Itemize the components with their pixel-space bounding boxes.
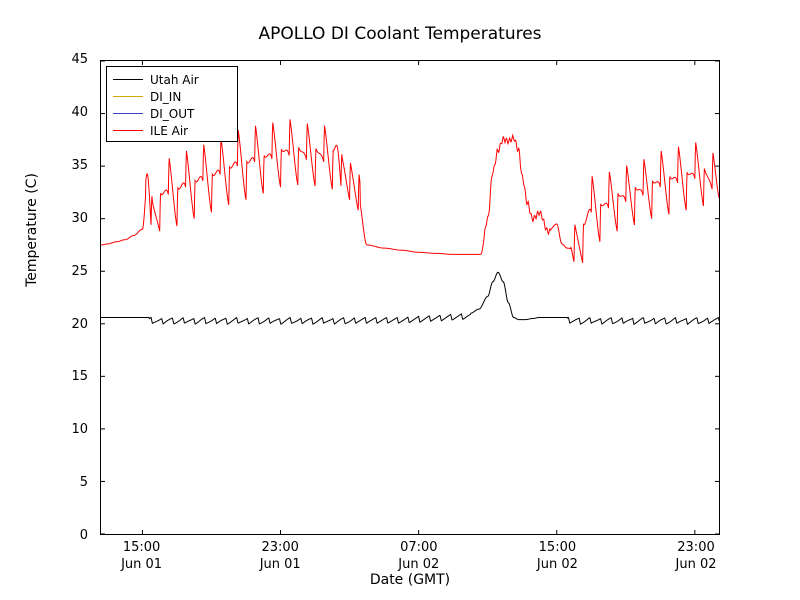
legend-label-ile-air: ILE Air	[150, 124, 188, 138]
y-tick-label: 10	[28, 422, 88, 437]
legend-swatch-utah-air	[113, 79, 143, 80]
y-tick-label: 0	[28, 528, 88, 543]
chart-title: APOLLO DI Coolant Temperatures	[0, 24, 800, 44]
y-tick-label: 20	[28, 317, 88, 332]
legend-swatch-di-in	[113, 96, 143, 97]
chart-figure: APOLLO DI Coolant Temperatures Temperatu…	[0, 0, 800, 600]
x-tick-label: 07:00 Jun 02	[364, 539, 474, 573]
y-tick-label: 40	[28, 105, 88, 120]
y-tick-label: 45	[28, 52, 88, 67]
series-layer	[101, 119, 719, 324]
legend-swatch-di-out	[113, 113, 143, 114]
x-tick-label: 15:00 Jun 01	[87, 539, 197, 573]
legend-label-utah-air: Utah Air	[150, 73, 199, 87]
legend-swatch-ile-air	[113, 130, 143, 131]
legend-entry-di-out: DI_OUT	[107, 105, 237, 122]
legend-entry-utah-air: Utah Air	[107, 71, 237, 88]
x-tick-label: 23:00 Jun 01	[225, 539, 335, 573]
legend-entry-di-in: DI_IN	[107, 88, 237, 105]
y-tick-label: 15	[28, 369, 88, 384]
y-tick-label: 30	[28, 211, 88, 226]
x-axis-label: Date (GMT)	[100, 572, 720, 588]
series-line-utah-air	[101, 272, 719, 324]
x-tick-label: 23:00 Jun 02	[641, 539, 751, 573]
legend-entry-ile-air: ILE Air	[107, 122, 237, 139]
legend-label-di-out: DI_OUT	[150, 107, 194, 121]
y-tick-label: 35	[28, 158, 88, 173]
y-tick-label: 5	[28, 475, 88, 490]
legend-label-di-in: DI_IN	[150, 90, 181, 104]
x-tick-label: 15:00 Jun 02	[502, 539, 612, 573]
legend: Utah Air DI_IN DI_OUT ILE Air	[106, 66, 238, 142]
y-tick-label: 25	[28, 264, 88, 279]
